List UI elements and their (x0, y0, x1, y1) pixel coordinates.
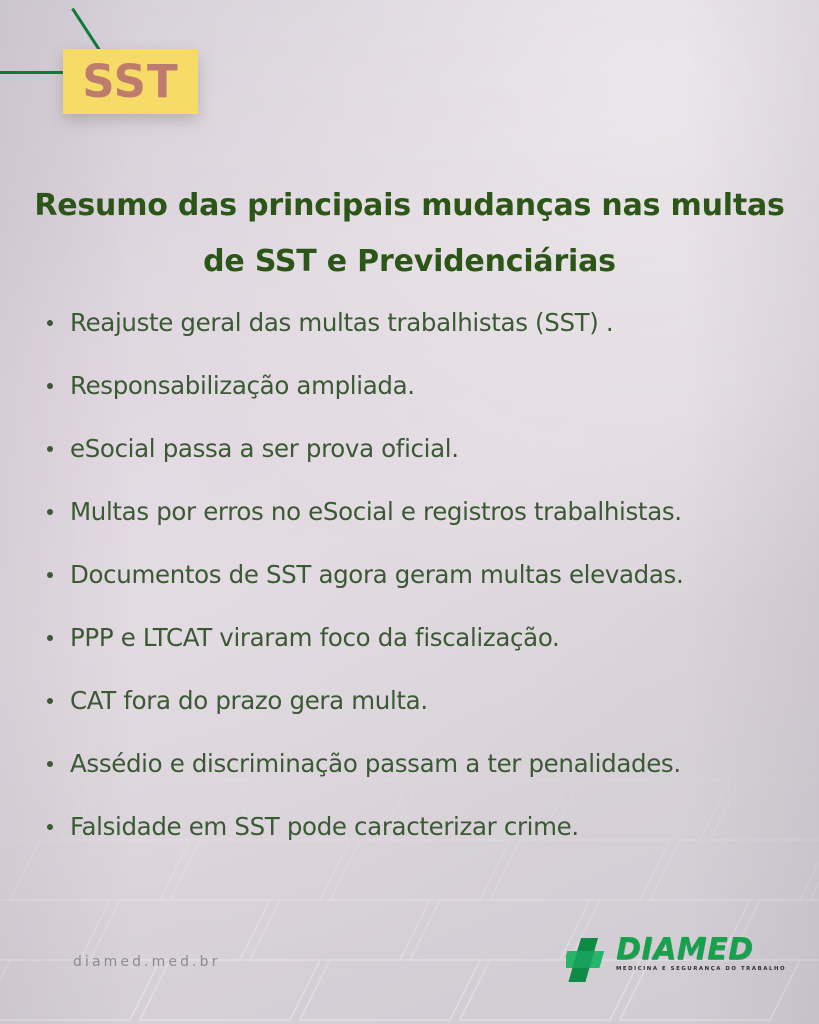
bullet-dot-icon (47, 383, 53, 389)
list-item-label: Responsabilização ampliada. (70, 371, 415, 400)
bullet-dot-icon (47, 320, 53, 326)
sst-badge: SST (63, 49, 198, 114)
bullet-dot-icon (47, 572, 53, 578)
site-url[interactable]: diamed.med.br (73, 954, 220, 970)
list-item-label: Reajuste geral das multas trabalhistas (… (70, 308, 613, 337)
list-item: eSocial passa a ser prova oficial. (40, 417, 800, 480)
list-item-label: Documentos de SST agora geram multas ele… (70, 560, 683, 589)
poster-canvas: SST Resumo das principais mudanças nas m… (0, 0, 819, 1024)
list-item-label: Falsidade em SST pode caracterizar crime… (70, 812, 579, 841)
bullet-dot-icon (47, 509, 53, 515)
page-title-line-2: de SST e Previdenciárias (26, 234, 793, 290)
list-item-label: Assédio e discriminação passam a ter pen… (70, 749, 681, 778)
diamed-brand-text: DIAMED (616, 934, 752, 965)
bullet-dot-icon (47, 698, 53, 704)
list-item: Assédio e discriminação passam a ter pen… (40, 732, 800, 795)
sst-badge-label: SST (82, 59, 179, 104)
list-item-label: PPP e LTCAT viraram foco da fiscalização… (70, 623, 560, 652)
bullet-dot-icon (47, 635, 53, 641)
list-item-label: eSocial passa a ser prova oficial. (70, 434, 459, 463)
diamed-wordmark: DIAMED MEDICINA E SEGURANÇA DO TRABALHO (616, 934, 752, 974)
bullet-dot-icon (47, 446, 53, 452)
page-title-line-1: Resumo das principais mudanças nas multa… (26, 178, 793, 234)
bullet-list: Reajuste geral das multas trabalhistas (… (40, 291, 800, 858)
list-item: Falsidade em SST pode caracterizar crime… (40, 795, 800, 858)
list-item: CAT fora do prazo gera multa. (40, 669, 800, 732)
diamed-tagline-text: MEDICINA E SEGURANÇA DO TRABALHO (616, 965, 752, 974)
list-item: PPP e LTCAT viraram foco da fiscalização… (40, 606, 800, 669)
medical-cross-icon (566, 938, 612, 982)
page-title: Resumo das principais mudanças nas multa… (0, 178, 819, 290)
list-item-label: Multas por erros no eSocial e registros … (70, 497, 682, 526)
bullet-dot-icon (47, 824, 53, 830)
list-item: Multas por erros no eSocial e registros … (40, 480, 800, 543)
bullet-dot-icon (47, 761, 53, 767)
list-item: Reajuste geral das multas trabalhistas (… (40, 291, 800, 354)
list-item: Responsabilização ampliada. (40, 354, 800, 417)
list-item-label: CAT fora do prazo gera multa. (70, 686, 428, 715)
list-item: Documentos de SST agora geram multas ele… (40, 543, 800, 606)
diamed-logo: DIAMED MEDICINA E SEGURANÇA DO TRABALHO (566, 934, 751, 986)
